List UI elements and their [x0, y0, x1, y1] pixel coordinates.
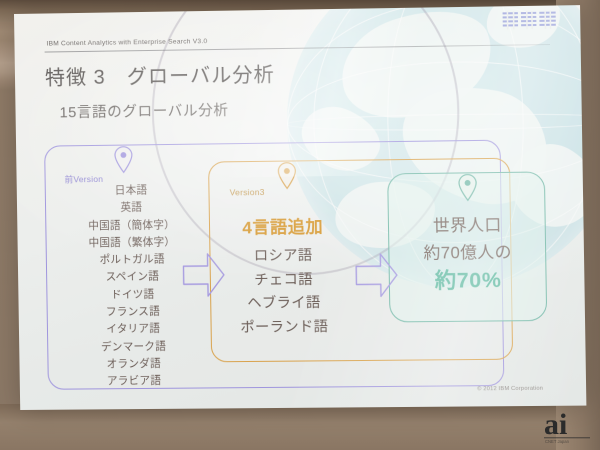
list-item: 英語 [71, 199, 192, 218]
population-line-2: 約70億人の [392, 239, 543, 268]
list-item: ポルトガル語 [72, 251, 193, 270]
list-item: ヘブライ語 [217, 292, 351, 317]
slide-canvas: IBM Content Analytics with Enterprise Se… [14, 5, 586, 410]
map-pin-icon-population [456, 173, 479, 202]
svg-text:ai: ai [544, 408, 567, 441]
list-item: ロシア語 [216, 244, 350, 269]
page-subtitle: 15言語のグローバル分析 [59, 99, 228, 122]
version3-heading: 4言語追加 [221, 212, 345, 239]
list-item: ポーランド語 [218, 315, 352, 340]
list-item: デンマーク語 [73, 338, 194, 356]
page-title: 特徴 3 グローバル分析 [45, 58, 275, 90]
map-pin-icon-previous-version [112, 145, 135, 173]
list-item: ドイツ語 [72, 286, 193, 305]
list-item: 日本語 [71, 182, 192, 201]
svg-text:CNET Japan: CNET Japan [545, 439, 570, 444]
population-highlight: 約70% [393, 266, 544, 295]
list-item: オランダ語 [73, 355, 194, 373]
list-item: チェコ語 [217, 268, 351, 293]
list-item: 中国語（簡体字） [71, 217, 192, 236]
population-text: 世界人口 約70億人の 約70% [392, 212, 544, 295]
copyright-notice: © 2012 IBM Corporation [477, 386, 543, 393]
version3-tag: Version3 [230, 187, 265, 197]
list-item: アラビア語 [74, 373, 195, 391]
list-item: スペイン語 [72, 269, 193, 288]
list-item: フランス語 [73, 303, 194, 322]
list-item: イタリア語 [73, 321, 194, 339]
previous-version-language-list: 日本語 英語 中国語（簡体字） 中国語（繁体字） ポルトガル語 スペイン語 ドイ… [71, 182, 195, 391]
map-pin-icon-version3 [276, 161, 299, 189]
cnet-ai-watermark: ai CNET Japan [542, 404, 594, 444]
projected-slide: IBM Content Analytics with Enterprise Se… [14, 5, 586, 410]
list-item: 中国語（繁体字） [72, 234, 193, 253]
version3-language-list: ロシア語 チェコ語 ヘブライ語 ポーランド語 [216, 244, 351, 340]
ibm-logo [503, 10, 556, 31]
wall-bottom [0, 404, 600, 450]
population-line-1: 世界人口 [392, 212, 543, 241]
